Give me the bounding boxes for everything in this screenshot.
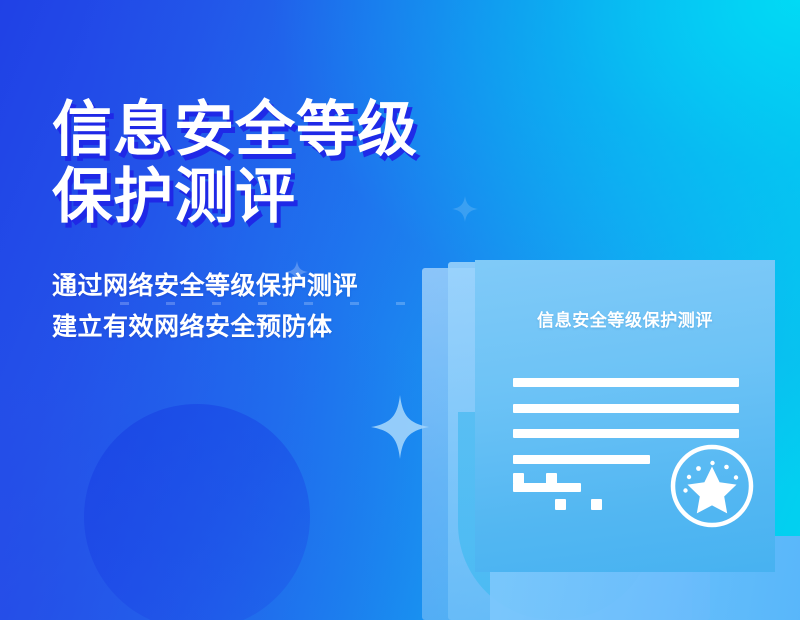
page-title: 信息安全等级 保护测评 — [52, 96, 482, 230]
certificate-card: 信息安全等级保护测评 — [475, 260, 775, 572]
star-seal-icon — [668, 442, 756, 530]
certificate-dot-row-1 — [513, 473, 557, 484]
spacer — [513, 413, 739, 429]
certificate-dot — [546, 473, 557, 484]
certificate-line-1 — [513, 378, 739, 387]
certificate-line-3 — [513, 429, 739, 438]
certificate-line-4 — [513, 455, 650, 464]
headline-line-2: 保护测评 — [52, 163, 482, 230]
subtitle-block: 通过网络安全等级保护测评 建立有效网络安全预防体 — [52, 266, 482, 348]
promo-banner: 信息安全等级 保护测评 通过网络安全等级保护测评 建立有效网络安全预防体 信息安… — [0, 0, 800, 620]
spacer — [524, 473, 546, 484]
headline-block: 信息安全等级 保护测评 通过网络安全等级保护测评 建立有效网络安全预防体 — [52, 96, 482, 348]
certificate-line-2 — [513, 404, 739, 413]
certificate-dot — [555, 499, 566, 510]
spacer — [513, 387, 739, 404]
decorative-circle — [84, 404, 310, 620]
subtitle-line-2: 建立有效网络安全预防体 — [52, 307, 482, 348]
certificate-dot — [591, 499, 602, 510]
subtitle-line-1: 通过网络安全等级保护测评 — [52, 266, 482, 307]
certificate-line-5 — [513, 483, 581, 492]
certificate-dot — [513, 473, 524, 484]
spacer — [566, 499, 591, 510]
certificate-dot-row-2 — [513, 499, 602, 510]
certificate-title: 信息安全等级保护测评 — [475, 306, 775, 331]
headline-line-1: 信息安全等级 — [52, 96, 482, 163]
